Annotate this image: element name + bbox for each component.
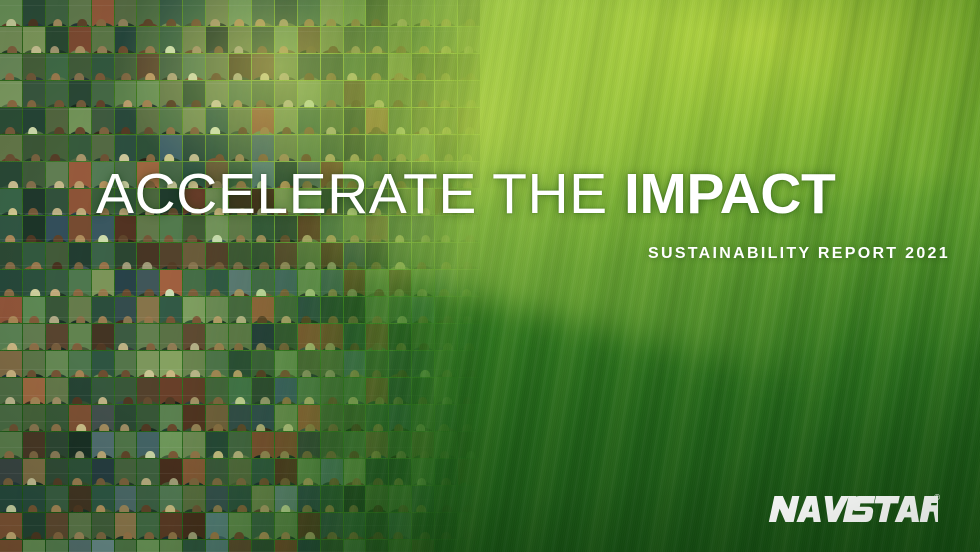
sustainability-report-cover: ACCELERATE THE IMPACT SUSTAINABILITY REP… <box>0 0 980 552</box>
mosaic-row-lines <box>0 0 480 552</box>
title-light-part: ACCELERATE THE <box>96 162 624 226</box>
navistar-logo: ® <box>762 491 938 527</box>
page-title: ACCELERATE THE IMPACT <box>96 166 835 223</box>
employee-photo-mosaic <box>0 0 480 552</box>
report-subtitle: SUSTAINABILITY REPORT 2021 <box>648 245 950 263</box>
title-bold-part: IMPACT <box>624 162 835 226</box>
trademark-icon: ® <box>934 493 940 502</box>
